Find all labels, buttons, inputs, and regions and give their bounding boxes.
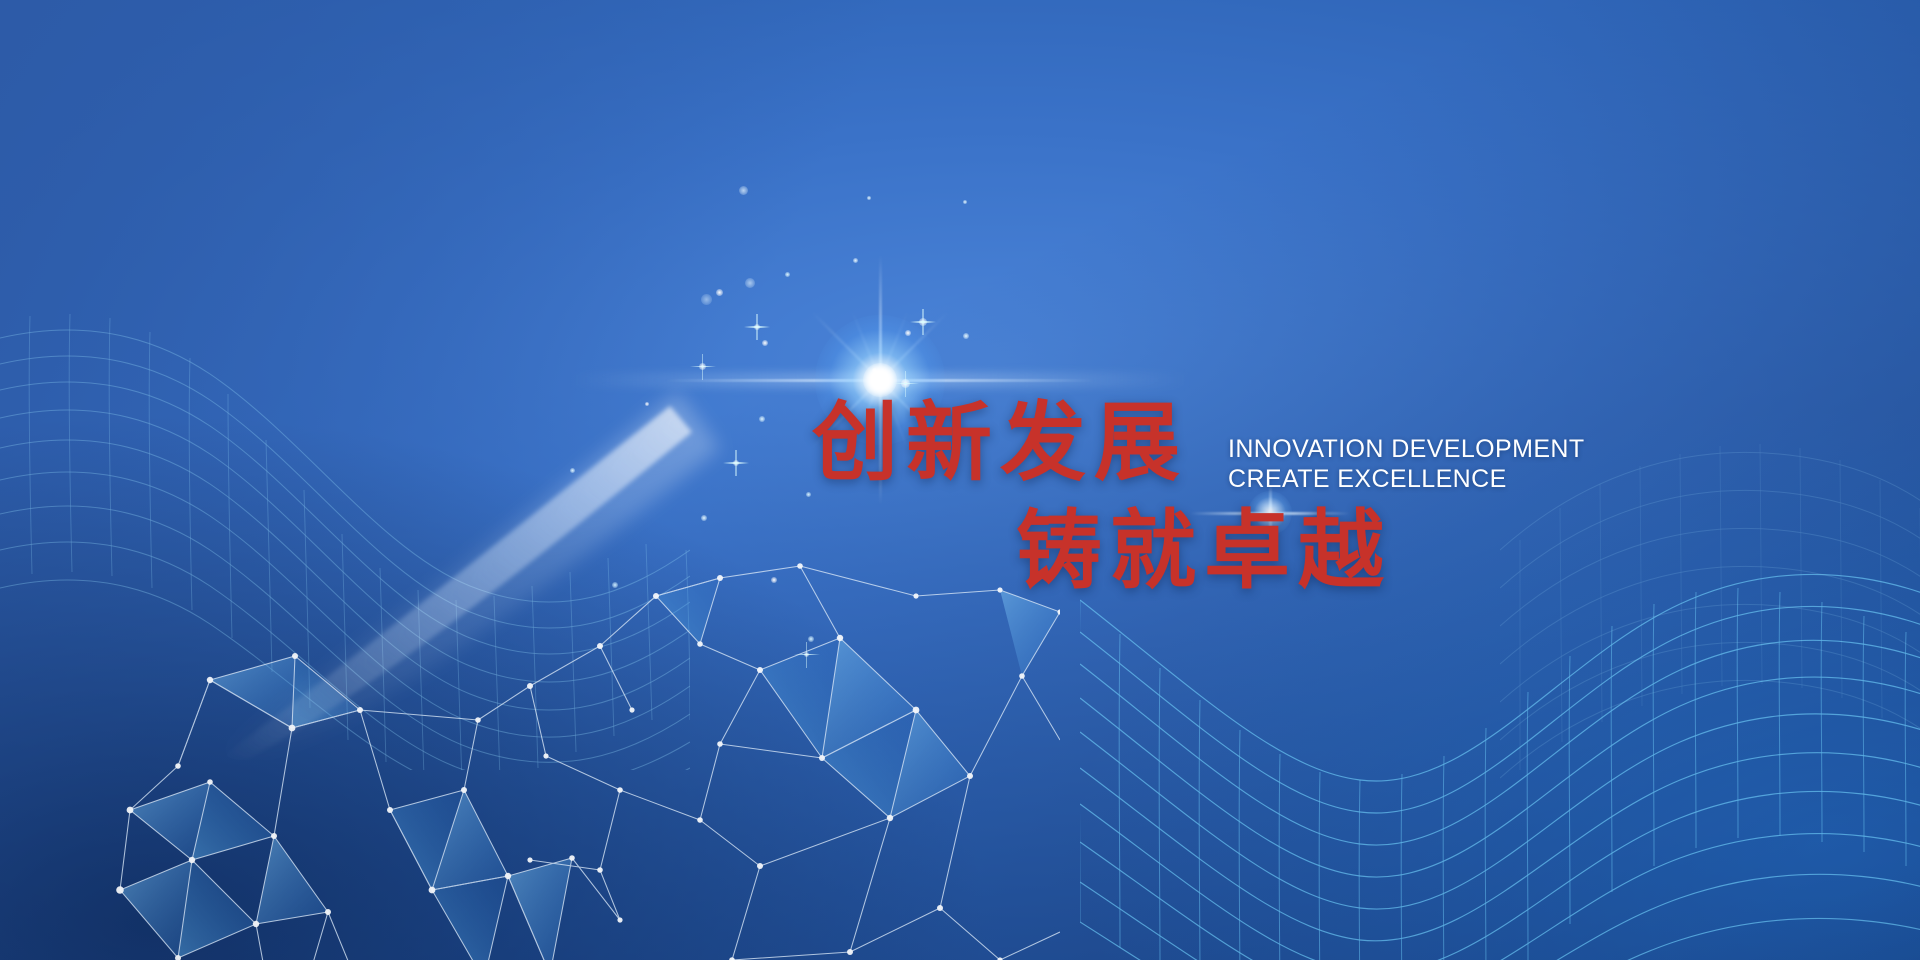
headline-cn-line2: 铸就卓越 <box>1016 508 1512 594</box>
banner-canvas: 创新发展 铸就卓越 INNOVATION DEVELOPMENT CREATE … <box>0 0 1920 960</box>
subhead-block: INNOVATION DEVELOPMENT CREATE EXCELLENCE <box>1228 434 1585 494</box>
subhead-en-line2: CREATE EXCELLENCE <box>1228 464 1585 494</box>
headline-block: 创新发展 铸就卓越 <box>812 400 1512 594</box>
subhead-en-line1: INNOVATION DEVELOPMENT <box>1228 434 1585 464</box>
